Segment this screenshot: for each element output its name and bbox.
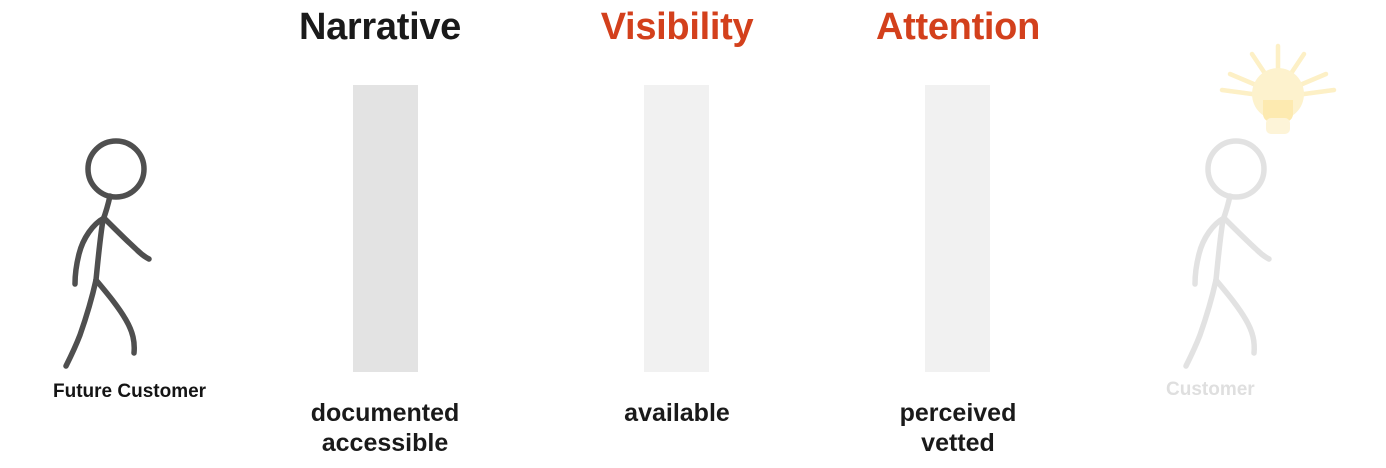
caption-line: accessible [245,428,525,458]
figure-front-arm [1224,218,1269,259]
figure-head [88,141,144,197]
figure-back-leg [1186,280,1216,366]
caption-line: vetted [818,428,1098,458]
column-caption-visibility: available [537,398,817,428]
column-caption-attention: perceived vetted [818,398,1098,458]
figure-back-leg [66,280,96,366]
caption-line: available [537,398,817,428]
column-bar-attention [925,85,990,372]
figure-head [1208,141,1264,197]
diagram-canvas: Narrative Visibility Attention documente… [0,0,1386,468]
column-bar-visibility [644,85,709,372]
caption-line: perceived [818,398,1098,428]
column-caption-narrative: documented accessible [245,398,525,458]
walking-stick-figure-faded-svg [1158,120,1386,380]
column-heading-attention: Attention [818,4,1098,50]
figure-label-future-customer: Future Customer [53,380,206,404]
walking-stick-figure-icon-faded [1158,120,1386,380]
caption-line: documented [245,398,525,428]
figure-spine [96,196,110,280]
walking-stick-figure-icon [38,120,268,380]
figure-spine [1216,196,1230,280]
column-heading-visibility: Visibility [537,4,817,50]
figure-front-arm [104,218,149,259]
figure-front-leg [96,280,134,353]
walking-stick-figure-svg [38,120,268,380]
figure-front-leg [1216,280,1254,353]
figure-label-customer: Customer [1166,378,1255,402]
column-bar-narrative [353,85,418,372]
column-heading-narrative: Narrative [240,4,520,50]
